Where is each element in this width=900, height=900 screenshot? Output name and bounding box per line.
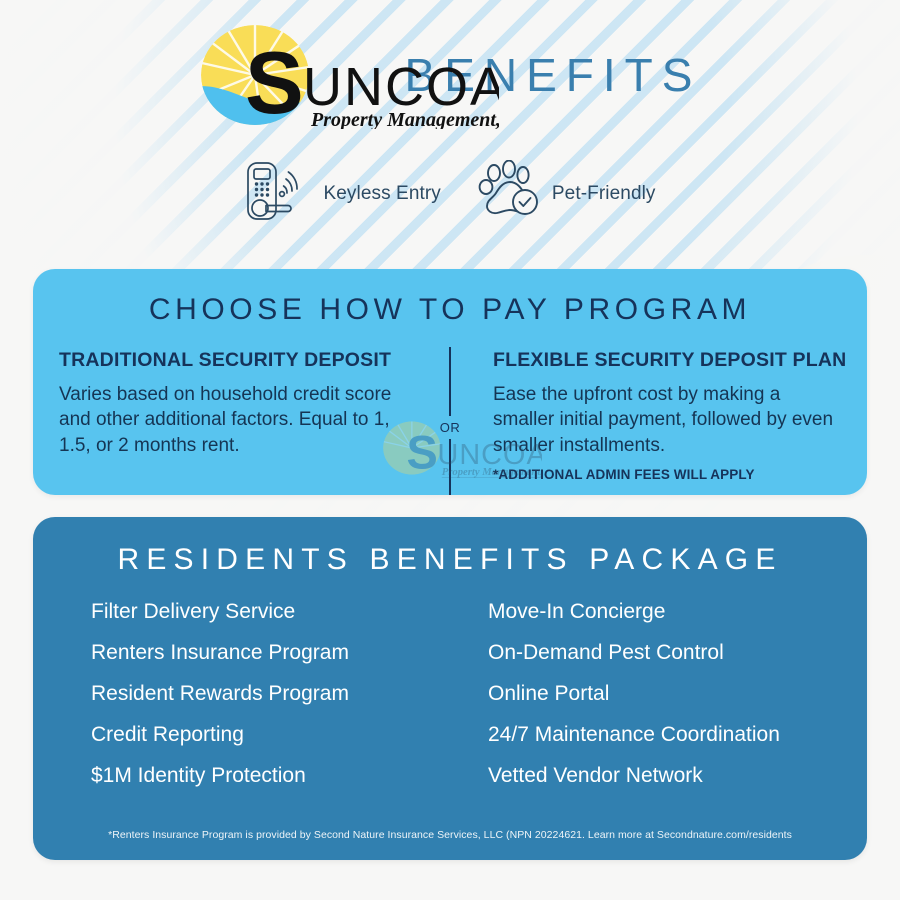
svg-text:Property Management, LLC: Property Management, LLC xyxy=(310,109,499,129)
or-divider: OR xyxy=(430,347,470,495)
pay-option-heading-traditional: TRADITIONAL SECURITY DEPOSIT xyxy=(59,349,411,372)
logo-svg: S UNCOAST Property Management, LLC xyxy=(199,21,499,129)
residents-package-columns: Filter Delivery Service Renters Insuranc… xyxy=(33,601,867,806)
svg-text:S: S xyxy=(245,33,304,129)
pay-option-note-flexible: *ADDITIONAL ADMIN FEES WILL APPLY xyxy=(493,467,843,482)
list-item: Online Portal xyxy=(488,683,837,704)
choose-how-to-pay-panel: CHOOSE HOW TO PAY PROGRAM TRADITIONAL SE… xyxy=(33,269,867,495)
list-item: Renters Insurance Program xyxy=(91,642,464,663)
feature-icon-row: Keyless Entry Pet-Friendly xyxy=(0,160,900,227)
header: S UNCOAST Property Management, LLC BENEF… xyxy=(0,0,900,150)
feature-label-pet-friendly: Pet-Friendly xyxy=(552,183,656,205)
pay-program-title: CHOOSE HOW TO PAY PROGRAM xyxy=(33,295,867,325)
feature-label-keyless-entry: Keyless Entry xyxy=(323,183,440,205)
residents-package-title: RESIDENTS BENEFITS PACKAGE xyxy=(33,545,867,575)
paw-check-icon xyxy=(477,160,545,227)
keypad-lock-icon xyxy=(244,160,316,227)
pay-option-traditional: TRADITIONAL SECURITY DEPOSIT Varies base… xyxy=(59,349,451,482)
list-item: Credit Reporting xyxy=(91,724,464,745)
list-item: 24/7 Maintenance Coordination xyxy=(488,724,837,745)
pay-option-flexible: FLEXIBLE SECURITY DEPOSIT PLAN Ease the … xyxy=(451,349,843,482)
svg-text:UNCOAST: UNCOAST xyxy=(303,57,499,117)
residents-package-column-right: Move-In Concierge On-Demand Pest Control… xyxy=(464,601,837,806)
list-item: Resident Rewards Program xyxy=(91,683,464,704)
logo-lockup: S UNCOAST Property Management, LLC BENEF… xyxy=(199,21,702,129)
feature-pet-friendly: Pet-Friendly xyxy=(477,160,656,227)
list-item: On-Demand Pest Control xyxy=(488,642,837,663)
list-item: Vetted Vendor Network xyxy=(488,765,837,786)
list-item: $1M Identity Protection xyxy=(91,765,464,786)
pay-option-heading-flexible: FLEXIBLE SECURITY DEPOSIT PLAN xyxy=(493,349,843,372)
or-divider-label: OR xyxy=(440,416,461,439)
feature-keyless-entry: Keyless Entry xyxy=(244,160,440,227)
list-item: Filter Delivery Service xyxy=(91,601,464,622)
or-divider-line-bottom xyxy=(449,439,451,496)
pay-option-body-traditional: Varies based on household credit score a… xyxy=(59,382,411,458)
residents-benefits-package-panel: RESIDENTS BENEFITS PACKAGE Filter Delive… xyxy=(33,517,867,860)
pay-option-body-flexible: Ease the upfront cost by making a smalle… xyxy=(493,382,843,458)
pay-program-columns: TRADITIONAL SECURITY DEPOSIT Varies base… xyxy=(33,349,867,482)
benefits-flyer: S UNCOAST Property Management, LLC BENEF… xyxy=(0,0,900,900)
or-divider-line-top xyxy=(449,347,451,416)
list-item: Move-In Concierge xyxy=(488,601,837,622)
suncoast-logo-mark: S UNCOAST Property Management, LLC xyxy=(199,21,379,129)
residents-package-footnote: *Renters Insurance Program is provided b… xyxy=(33,829,867,841)
residents-package-column-left: Filter Delivery Service Renters Insuranc… xyxy=(91,601,464,806)
